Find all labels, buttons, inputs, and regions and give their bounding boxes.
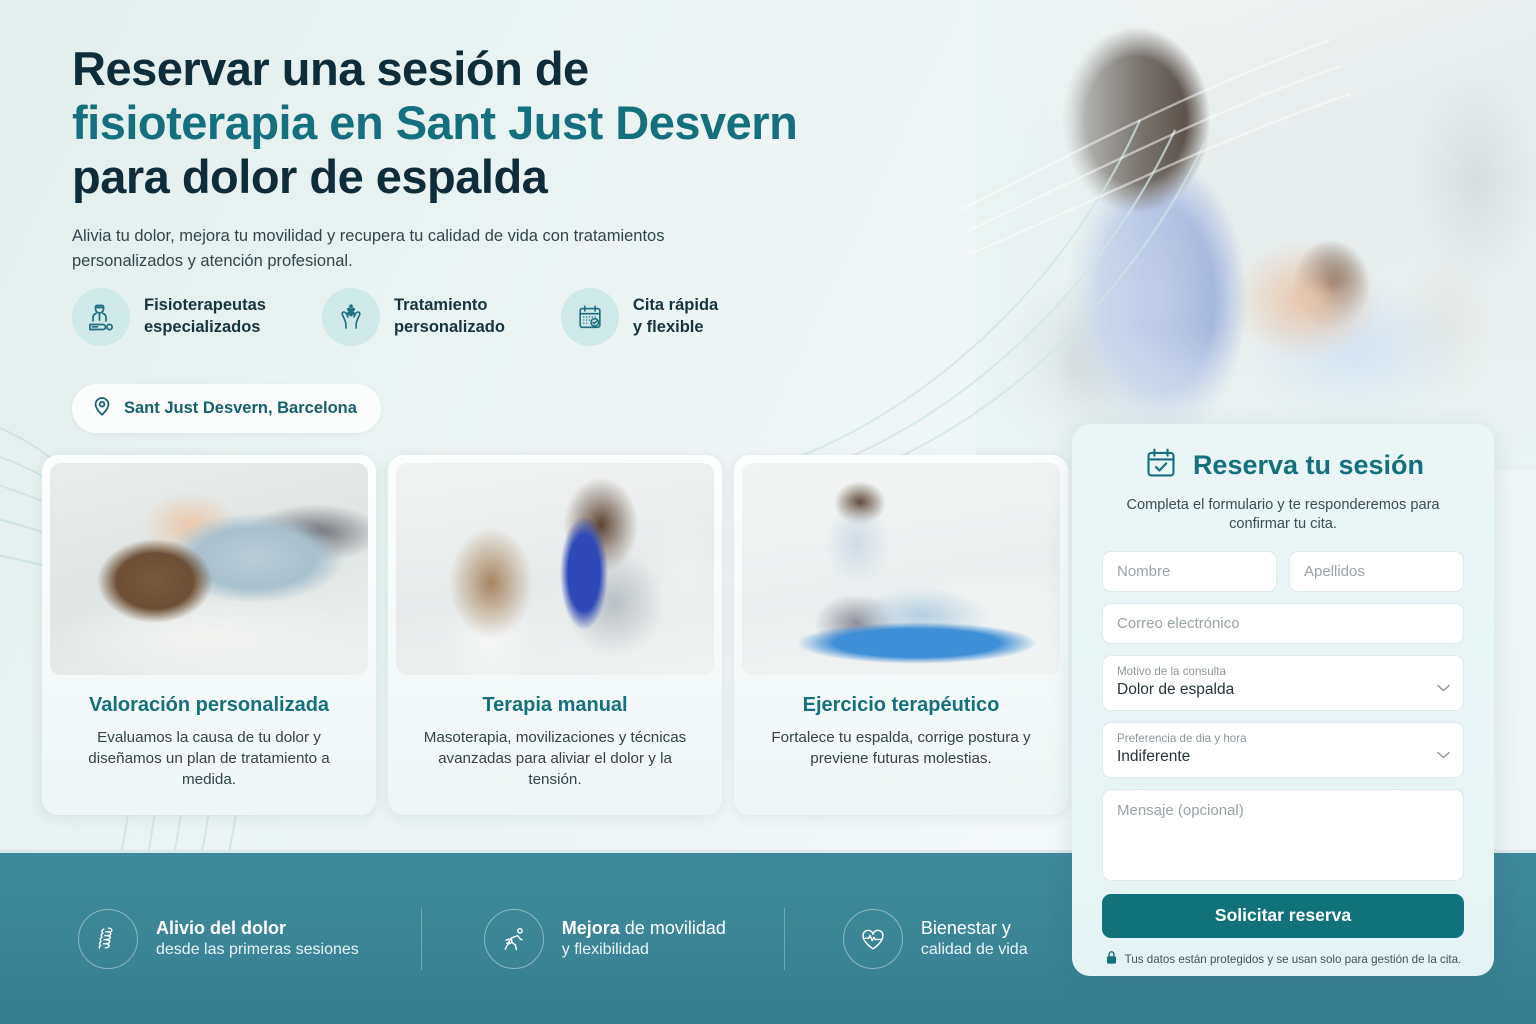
privacy-note: Tus datos están protegidos y se usan sol… bbox=[1102, 950, 1464, 970]
benefit-text: Bienestar y calidad de vida bbox=[921, 917, 1028, 961]
benefit-title-rest: Bienestar y bbox=[921, 918, 1011, 938]
feature-label-line1: Tratamiento bbox=[394, 295, 505, 317]
email-input[interactable]: Correo electrónico bbox=[1102, 603, 1464, 644]
form-subtitle: Completa el formulario y te responderemo… bbox=[1102, 496, 1464, 535]
card-body: Valoración personalizada Evaluamos la ca… bbox=[50, 675, 368, 815]
name-row: Nombre Apellidos bbox=[1102, 551, 1464, 592]
card-title: Ejercicio terapéutico bbox=[760, 694, 1042, 717]
benefit-wellbeing: Bienestar y calidad de vida bbox=[843, 909, 1028, 969]
preference-select[interactable]: Preferencia de dia y hora Indiferente bbox=[1102, 722, 1464, 778]
therapist-icon bbox=[72, 288, 130, 346]
location-text: Sant Just Desvern, Barcelona bbox=[124, 399, 357, 418]
privacy-text: Tus datos están protegidos y se usan sol… bbox=[1125, 953, 1462, 966]
hero-section: Reservar una sesión de fisioterapia en S… bbox=[72, 42, 902, 274]
feature-label: Cita rápida y flexible bbox=[633, 295, 718, 339]
reason-select-label: Motivo de la consulta bbox=[1117, 665, 1431, 679]
reason-select-value: Dolor de espalda bbox=[1117, 679, 1431, 701]
benefit-title: Alivio del dolor bbox=[156, 917, 359, 940]
benefit-title: Mejora de movilidad bbox=[562, 917, 726, 940]
benefit-mobility: Mejora de movilidad y flexibilidad bbox=[484, 909, 726, 969]
page-title: Reservar una sesión de fisioterapia en S… bbox=[72, 42, 902, 204]
heart-pulse-icon bbox=[843, 909, 903, 969]
headline-line-1: Reservar una sesión de bbox=[72, 42, 902, 96]
card-description: Evaluamos la causa de tu dolor y diseñam… bbox=[68, 728, 350, 791]
spine-icon bbox=[78, 909, 138, 969]
hero-subheadline: Alivia tu dolor, mejora tu movilidad y r… bbox=[72, 224, 762, 274]
service-card[interactable]: Terapia manual Masoterapia, movilizacion… bbox=[388, 455, 722, 815]
benefit-pain-relief: Alivio del dolor desde las primeras sesi… bbox=[78, 909, 359, 969]
headline-line-3: para dolor de espalda bbox=[72, 150, 902, 204]
form-title: Reserva tu sesión bbox=[1193, 450, 1424, 481]
benefit-title-strong: Mejora bbox=[562, 918, 620, 938]
benefit-subtitle: calidad de vida bbox=[921, 940, 1028, 960]
preference-select-value: Indiferente bbox=[1117, 746, 1431, 768]
feature-label: Tratamiento personalizado bbox=[394, 295, 505, 339]
caring-hands-icon bbox=[322, 288, 380, 346]
first-name-input[interactable]: Nombre bbox=[1102, 551, 1277, 592]
card-body: Terapia manual Masoterapia, movilizacion… bbox=[396, 675, 714, 815]
chevron-down-icon bbox=[1437, 679, 1450, 697]
message-textarea[interactable]: Mensaje (opcional) bbox=[1102, 789, 1464, 881]
benefit-subtitle: y flexibilidad bbox=[562, 940, 726, 960]
card-description: Fortalece tu espalda, corrige postura y … bbox=[760, 728, 1042, 770]
card-title: Terapia manual bbox=[414, 694, 696, 717]
submit-booking-button[interactable]: Solicitar reserva bbox=[1102, 894, 1464, 938]
last-name-input[interactable]: Apellidos bbox=[1289, 551, 1464, 592]
card-image-ejercicio bbox=[742, 463, 1060, 675]
benefit-text: Alivio del dolor desde las primeras sesi… bbox=[156, 917, 359, 961]
feature-label-line2: especializados bbox=[144, 317, 266, 339]
calendar-check-icon bbox=[1142, 444, 1180, 487]
headline-line-2: fisioterapia en Sant Just Desvern bbox=[72, 96, 902, 150]
form-header: Reserva tu sesión bbox=[1102, 444, 1464, 487]
feature-personalized-treatment: Tratamiento personalizado bbox=[322, 288, 505, 346]
benefit-text: Mejora de movilidad y flexibilidad bbox=[562, 917, 726, 961]
feature-label-line2: personalizado bbox=[394, 317, 505, 339]
booking-form-panel: Reserva tu sesión Completa el formulario… bbox=[1072, 424, 1494, 976]
benefit-subtitle: desde las primeras sesiones bbox=[156, 940, 359, 960]
feature-badges: Fisioterapeutas especializados bbox=[72, 288, 718, 346]
benefit-divider bbox=[784, 908, 785, 970]
feature-fast-appointment: Cita rápida y flexible bbox=[561, 288, 718, 346]
feature-label-line2: y flexible bbox=[633, 317, 718, 339]
service-card[interactable]: Valoración personalizada Evaluamos la ca… bbox=[42, 455, 376, 815]
card-image-terapia-manual bbox=[396, 463, 714, 675]
feature-label-line1: Fisioterapeutas bbox=[144, 295, 266, 317]
walking-person-icon bbox=[484, 909, 544, 969]
card-image-valoracion bbox=[50, 463, 368, 675]
service-cards: Valoración personalizada Evaluamos la ca… bbox=[42, 455, 1068, 815]
calendar-check-icon bbox=[561, 288, 619, 346]
feature-label: Fisioterapeutas especializados bbox=[144, 295, 266, 339]
location-pin-icon bbox=[91, 395, 113, 422]
feature-specialized-physios: Fisioterapeutas especializados bbox=[72, 288, 266, 346]
chevron-down-icon bbox=[1437, 746, 1450, 764]
card-body: Ejercicio terapéutico Fortalece tu espal… bbox=[742, 675, 1060, 794]
benefit-divider bbox=[421, 908, 422, 970]
benefit-title-rest: de movilidad bbox=[620, 918, 726, 938]
feature-label-line1: Cita rápida bbox=[633, 295, 718, 317]
reason-select[interactable]: Motivo de la consulta Dolor de espalda bbox=[1102, 655, 1464, 711]
preference-select-label: Preferencia de dia y hora bbox=[1117, 732, 1431, 746]
card-title: Valoración personalizada bbox=[68, 694, 350, 717]
service-card[interactable]: Ejercicio terapéutico Fortalece tu espal… bbox=[734, 455, 1068, 815]
card-description: Masoterapia, movilizaciones y técnicas a… bbox=[414, 728, 696, 791]
landing-page: Reservar una sesión de fisioterapia en S… bbox=[0, 0, 1536, 1024]
benefit-title: Bienestar y bbox=[921, 917, 1028, 940]
lock-icon bbox=[1105, 950, 1118, 970]
location-pill[interactable]: Sant Just Desvern, Barcelona bbox=[72, 384, 381, 433]
